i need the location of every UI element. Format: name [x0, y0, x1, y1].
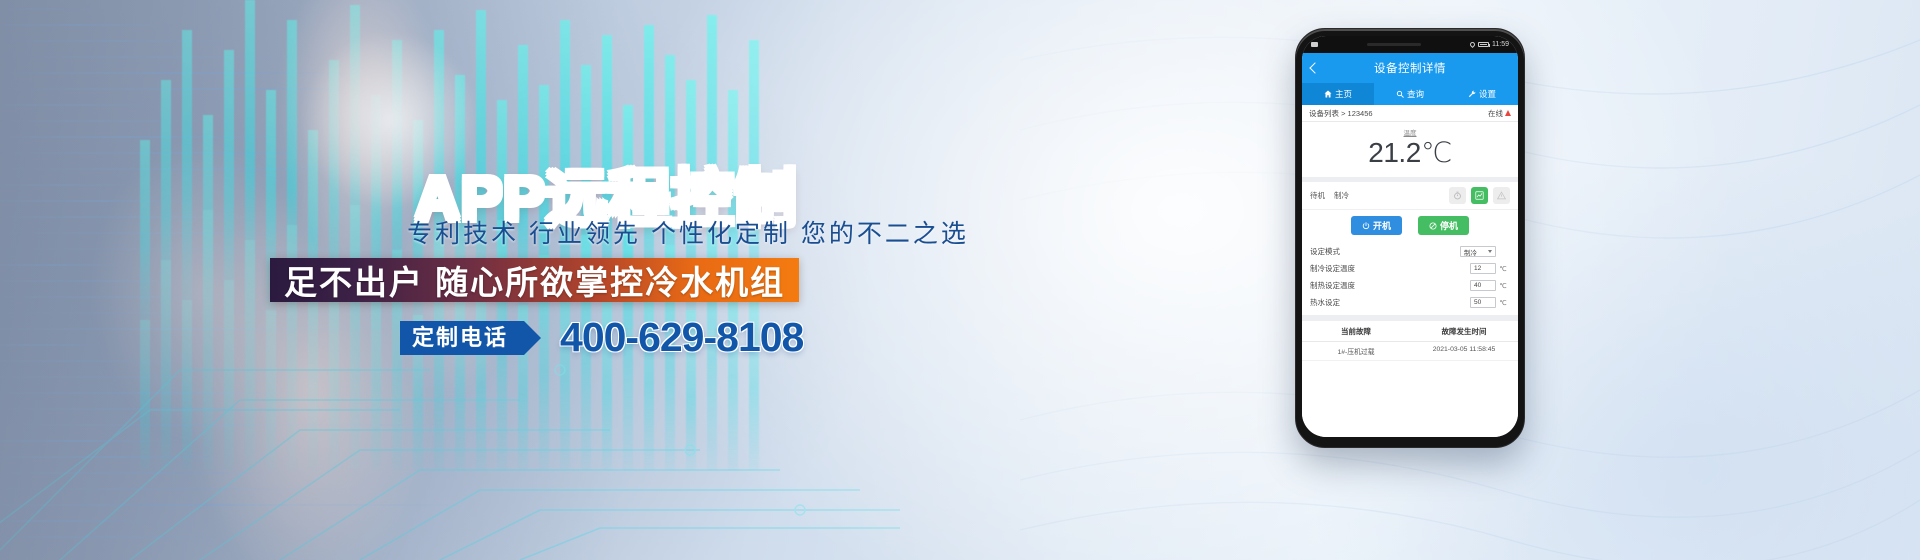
- tab-home[interactable]: 主页: [1302, 83, 1374, 105]
- power-off-label: 停机: [1440, 219, 1458, 232]
- table-row[interactable]: 1#-压机过载 2021-03-05 11:58:45: [1302, 342, 1518, 361]
- tab-settings[interactable]: 设置: [1446, 83, 1518, 105]
- fault-time: 2021-03-05 11:58:45: [1410, 346, 1518, 356]
- banner-subtitle: 专利技术 行业领先 个性化定制 您的不二之选: [338, 214, 1038, 250]
- location-icon: [1469, 41, 1476, 48]
- earpiece-speaker: [1367, 43, 1421, 46]
- home-icon: [1324, 90, 1332, 98]
- power-on-button[interactable]: 开机: [1351, 216, 1402, 235]
- fault-name: 1#-压机过载: [1302, 346, 1410, 356]
- fault-table-header: 当前故障 故障发生时间: [1302, 321, 1518, 342]
- fault-col-time: 故障发生时间: [1410, 326, 1518, 337]
- status-badge: 在线: [1488, 108, 1511, 119]
- status-bar-right: 11:59: [1470, 41, 1509, 48]
- breadcrumb-path[interactable]: 设备列表 > 123456: [1309, 108, 1373, 119]
- device-state: 待机: [1310, 190, 1325, 201]
- chart-icon-button[interactable]: [1471, 187, 1488, 204]
- tab-query[interactable]: 查询: [1374, 83, 1446, 105]
- alarm-icon-button[interactable]: [1493, 187, 1510, 204]
- temperature-card: 温度 21.2℃: [1302, 122, 1518, 182]
- power-off-button[interactable]: 停机: [1418, 216, 1469, 235]
- setting-label-heat-temp: 制热设定温度: [1310, 280, 1470, 291]
- cool-temp-input[interactable]: 12: [1470, 263, 1496, 274]
- app-bar: 设备控制详情: [1302, 53, 1518, 83]
- breadcrumb: 设备列表 > 123456 在线: [1302, 105, 1518, 122]
- setting-label-hotwater: 热水设定: [1310, 297, 1470, 308]
- cool-temp-value: 12: [1474, 265, 1481, 272]
- chevron-down-icon: [1488, 250, 1492, 253]
- search-icon: [1396, 90, 1404, 98]
- temperature-label: 温度: [1302, 127, 1518, 137]
- wrench-icon: [1468, 90, 1476, 98]
- banner-highlight-band: 足不出户 随心所欲掌控冷水机组: [270, 258, 799, 302]
- status-bar: 11:59: [1302, 36, 1518, 53]
- status-bar-left: [1311, 42, 1318, 47]
- fault-table: 当前故障 故障发生时间 1#-压机过载 2021-03-05 11:58:45: [1302, 321, 1518, 437]
- telephone-number[interactable]: 400-629-8108: [560, 314, 803, 361]
- mode-select[interactable]: 制冷: [1460, 246, 1496, 257]
- settings-list: 设定模式 制冷 制冷设定温度 12 ℃ 制热设定温度 40 ℃: [1302, 243, 1518, 315]
- power-icon: [1362, 222, 1370, 230]
- stop-icon: [1429, 222, 1437, 230]
- heat-temp-input[interactable]: 40: [1470, 280, 1496, 291]
- phone-mockup: 11:59 设备控制详情 主页 查询 设置: [1295, 28, 1525, 448]
- app-bar-title: 设备控制详情: [1302, 60, 1518, 76]
- battery-icon: [1478, 42, 1489, 47]
- chart-icon: [1475, 191, 1484, 200]
- tab-home-label: 主页: [1335, 88, 1352, 100]
- setting-row-mode: 设定模式 制冷: [1310, 243, 1510, 260]
- setting-unit-heat: ℃: [1496, 282, 1510, 290]
- timer-icon: [1453, 191, 1462, 200]
- sim-icon: [1311, 42, 1318, 47]
- tab-query-label: 查询: [1407, 88, 1424, 100]
- setting-row-hotwater: 热水设定 50 ℃: [1310, 294, 1510, 311]
- status-badge-label: 在线: [1488, 108, 1503, 119]
- tab-settings-label: 设置: [1479, 88, 1496, 100]
- mode-icon-group: [1449, 187, 1510, 204]
- telephone-row: 定制电话 400-629-8108: [400, 314, 803, 361]
- hotwater-input[interactable]: 50: [1470, 297, 1496, 308]
- heat-temp-value: 40: [1474, 282, 1481, 289]
- warning-triangle-icon: [1505, 110, 1511, 116]
- power-button-row: 开机 停机: [1302, 210, 1518, 243]
- setting-unit-hotwater: ℃: [1496, 299, 1510, 307]
- mode-row: 待机 制冷: [1302, 182, 1518, 210]
- setting-unit-cool: ℃: [1496, 265, 1510, 273]
- phone-screen: 11:59 设备控制详情 主页 查询 设置: [1302, 36, 1518, 437]
- telephone-label: 定制电话: [400, 321, 524, 355]
- hotwater-value: 50: [1474, 299, 1481, 306]
- device-mode: 制冷: [1334, 190, 1349, 201]
- timer-icon-button[interactable]: [1449, 187, 1466, 204]
- alarm-triangle-icon: [1497, 191, 1506, 200]
- setting-row-cool-temp: 制冷设定温度 12 ℃: [1310, 260, 1510, 277]
- temperature-value: 21.2℃: [1302, 137, 1518, 168]
- setting-label-cool-temp: 制冷设定温度: [1310, 263, 1470, 274]
- banner-highlight-text: 足不出户 随心所欲掌控冷水机组: [284, 256, 785, 304]
- setting-row-heat-temp: 制热设定温度 40 ℃: [1310, 277, 1510, 294]
- mode-select-value: 制冷: [1464, 247, 1477, 257]
- tab-bar: 主页 查询 设置: [1302, 83, 1518, 105]
- power-on-label: 开机: [1373, 219, 1391, 232]
- banner-copy: APP远程控制 专利技术 行业领先 个性化定制 您的不二之选 足不出户 随心所欲…: [0, 0, 1060, 560]
- fault-col-name: 当前故障: [1302, 326, 1410, 337]
- banner-stage: APP远程控制 专利技术 行业领先 个性化定制 您的不二之选 足不出户 随心所欲…: [0, 0, 1920, 560]
- status-bar-clock: 11:59: [1492, 41, 1509, 48]
- setting-label-mode: 设定模式: [1310, 246, 1460, 257]
